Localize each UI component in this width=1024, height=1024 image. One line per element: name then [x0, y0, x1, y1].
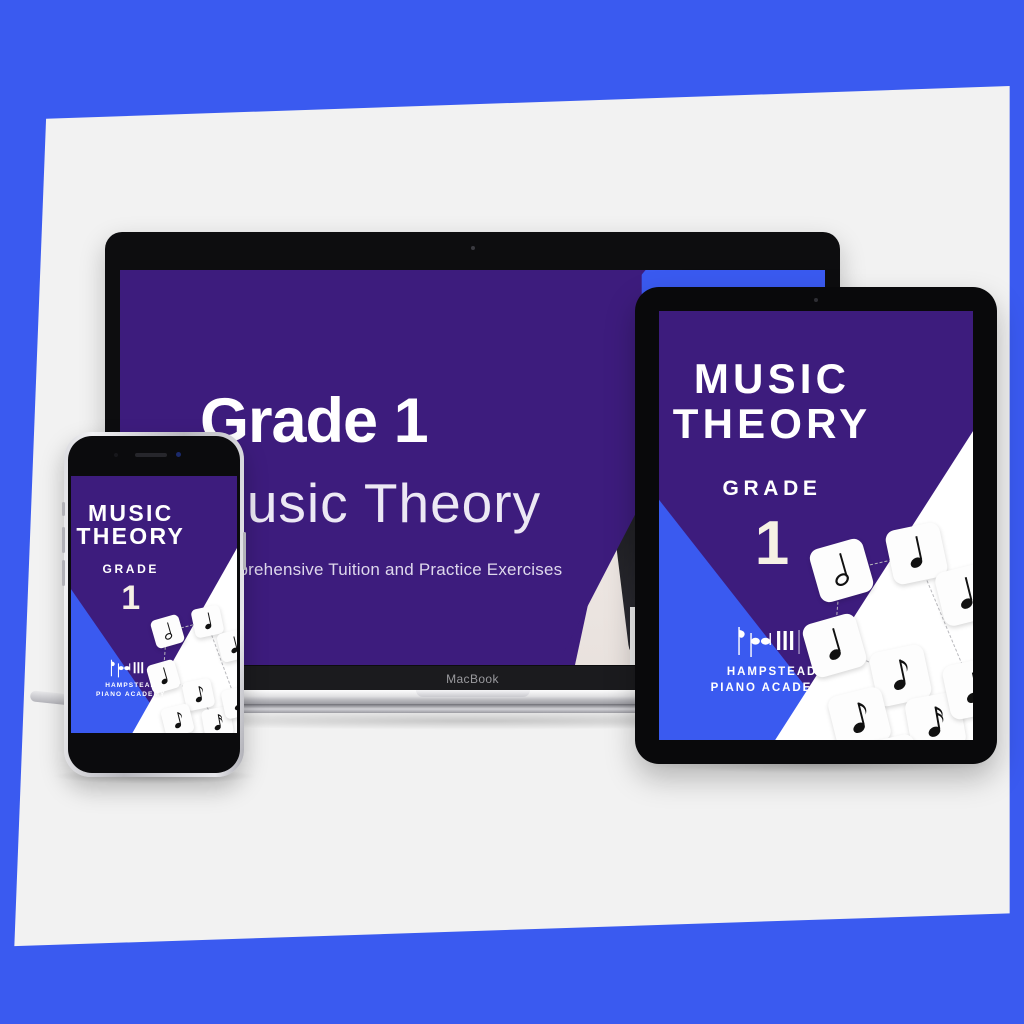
cover-brand-line2: PIANO ACADEMY — [659, 681, 929, 697]
cover-grade-number: 1 — [71, 581, 214, 615]
book-cover-phone: MUSIC THEORY GRADE 1 — [71, 476, 237, 733]
cover-grade-label: GRADE — [71, 563, 214, 575]
cover-brand-line1: HAMPSTEAD — [659, 665, 929, 681]
cover-text-block: MUSIC THEORY GRADE 1 — [71, 476, 214, 733]
tablet-device: MUSIC THEORY GRADE 1 — [635, 287, 997, 764]
cover-title-line2: THEORY — [71, 525, 214, 548]
hpa-logo-icon — [731, 624, 813, 658]
tablet-screen: MUSIC THEORY GRADE 1 — [659, 311, 973, 740]
macbook-tagline: Comprehensive Tuition and Practice Exerc… — [202, 560, 562, 580]
cover-title-line2: THEORY — [659, 403, 929, 445]
cover-grade-label: GRADE — [659, 478, 929, 499]
phone-device: MUSIC THEORY GRADE 1 — [64, 432, 244, 777]
cover-title-line1: MUSIC — [71, 502, 214, 525]
macbook-camera-icon — [471, 246, 475, 250]
cover-brand-line2: PIANO ACADEMY — [71, 691, 214, 700]
mockup-scene: Grade 1 Music Theory Comprehensive Tuiti… — [0, 0, 1024, 1024]
macbook-base-notch — [416, 690, 530, 697]
macbook-subhead: Music Theory — [200, 476, 541, 531]
tablet-camera-icon — [814, 298, 818, 302]
cover-text-block: MUSIC THEORY GRADE 1 — [659, 311, 929, 740]
phone-sensor-icon — [114, 453, 118, 457]
macbook-brand-label: MacBook — [446, 672, 499, 686]
cover-grade-number: 1 — [659, 513, 929, 575]
cover-brand-line1: HAMPSTEAD — [71, 682, 214, 691]
phone-camera-icon — [176, 452, 181, 457]
book-cover-tablet: MUSIC THEORY GRADE 1 — [659, 311, 973, 740]
phone-body: MUSIC THEORY GRADE 1 — [68, 436, 240, 773]
phone-speaker-icon — [135, 453, 167, 457]
phone-screen: MUSIC THEORY GRADE 1 — [71, 476, 237, 733]
hpa-logo-icon — [107, 658, 155, 678]
cover-title-line1: MUSIC — [659, 358, 929, 400]
